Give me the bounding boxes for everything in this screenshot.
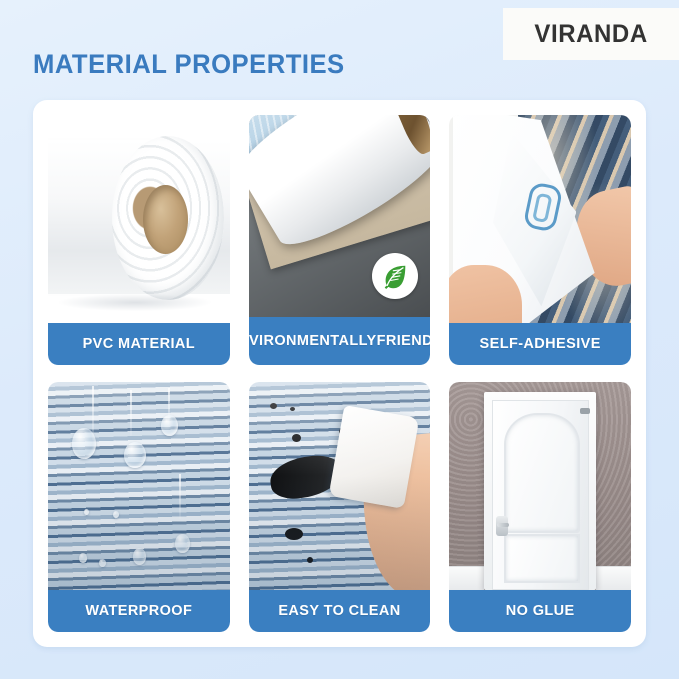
self-adhesive-scene	[449, 115, 631, 323]
left-hand-shape	[449, 265, 522, 323]
door-hinge	[580, 408, 590, 414]
feature-tile-no-glue[interactable]: NO GLUE	[449, 382, 631, 632]
pvc-roll-image	[48, 115, 230, 323]
feature-tile-pvc-material[interactable]: PVC MATERIAL	[48, 115, 230, 365]
leaf-icon	[372, 253, 418, 299]
brand-logo-badge: VIRANDA	[503, 8, 679, 60]
water-trail	[92, 386, 94, 440]
black-stain-dot	[307, 557, 313, 563]
features-grid: PVC MATERIAL	[48, 115, 631, 632]
feature-tile-environmentally-friendly[interactable]: ENVIRONMENTALLYFRIENDLY	[249, 115, 431, 365]
waterproof-image	[48, 382, 230, 590]
door-handle-icon	[496, 516, 508, 537]
feature-label-easy-to-clean: EASY TO CLEAN	[249, 590, 431, 632]
no-glue-image	[449, 382, 631, 590]
feature-label-waterproof: WATERPROOF	[48, 590, 230, 632]
black-stain-dot	[290, 407, 295, 411]
water-trail	[179, 474, 181, 520]
eco-roll-image	[249, 115, 431, 317]
feature-label-pvc-material: PVC MATERIAL	[48, 323, 230, 365]
feature-label-self-adhesive: SELF-ADHESIVE	[449, 323, 631, 365]
water-droplet	[84, 509, 89, 515]
feature-label-environmentally-friendly: ENVIRONMENTALLYFRIENDLY	[249, 317, 431, 365]
feature-label-no-glue: NO GLUE	[449, 590, 631, 632]
water-droplet	[79, 553, 87, 563]
hand-shape	[357, 432, 431, 590]
black-stain-dot	[292, 434, 301, 442]
self-adhesive-image	[449, 115, 631, 323]
black-stain-dot	[270, 403, 277, 409]
page-title: MATERIAL PROPERTIES	[33, 49, 345, 80]
pvc-roll-cylinder-shape	[112, 136, 225, 300]
black-stain-dot	[285, 528, 303, 540]
black-stain-smear	[268, 451, 346, 501]
baseboard-right	[596, 566, 631, 590]
brand-logo-text: VIRANDA	[534, 20, 647, 49]
pvc-roll-core-shape	[143, 185, 188, 254]
header: MATERIAL PROPERTIES VIRANDA	[0, 0, 679, 100]
water-droplet	[133, 548, 146, 565]
water-droplet	[124, 442, 146, 468]
water-droplet	[161, 415, 178, 436]
door-leaf	[492, 400, 589, 590]
baseboard-left	[449, 566, 484, 590]
water-droplet	[175, 534, 190, 553]
water-droplet	[72, 428, 96, 459]
features-card: PVC MATERIAL	[33, 100, 646, 647]
door-panel-bottom	[504, 534, 580, 583]
door-scene	[449, 382, 631, 590]
pvc-roll-shadow	[59, 294, 212, 311]
cleaning-cloth-shape	[329, 405, 420, 508]
door-frame	[484, 392, 597, 590]
water-droplet	[99, 559, 106, 567]
door-panel-top	[504, 413, 580, 533]
pvc-roll-scene	[48, 115, 230, 323]
eco-roll-end-shape	[381, 115, 431, 157]
easy-to-clean-scene	[249, 382, 431, 590]
easy-to-clean-image	[249, 382, 431, 590]
waterproof-scene	[48, 382, 230, 590]
water-trail	[168, 388, 170, 425]
feature-tile-self-adhesive[interactable]: SELF-ADHESIVE	[449, 115, 631, 365]
eco-scene	[249, 115, 431, 317]
feature-tile-waterproof[interactable]: WATERPROOF	[48, 382, 230, 632]
black-stain-dot	[339, 428, 347, 435]
water-droplet	[113, 511, 119, 518]
feature-tile-easy-to-clean[interactable]: EASY TO CLEAN	[249, 382, 431, 632]
water-trail	[130, 390, 132, 436]
